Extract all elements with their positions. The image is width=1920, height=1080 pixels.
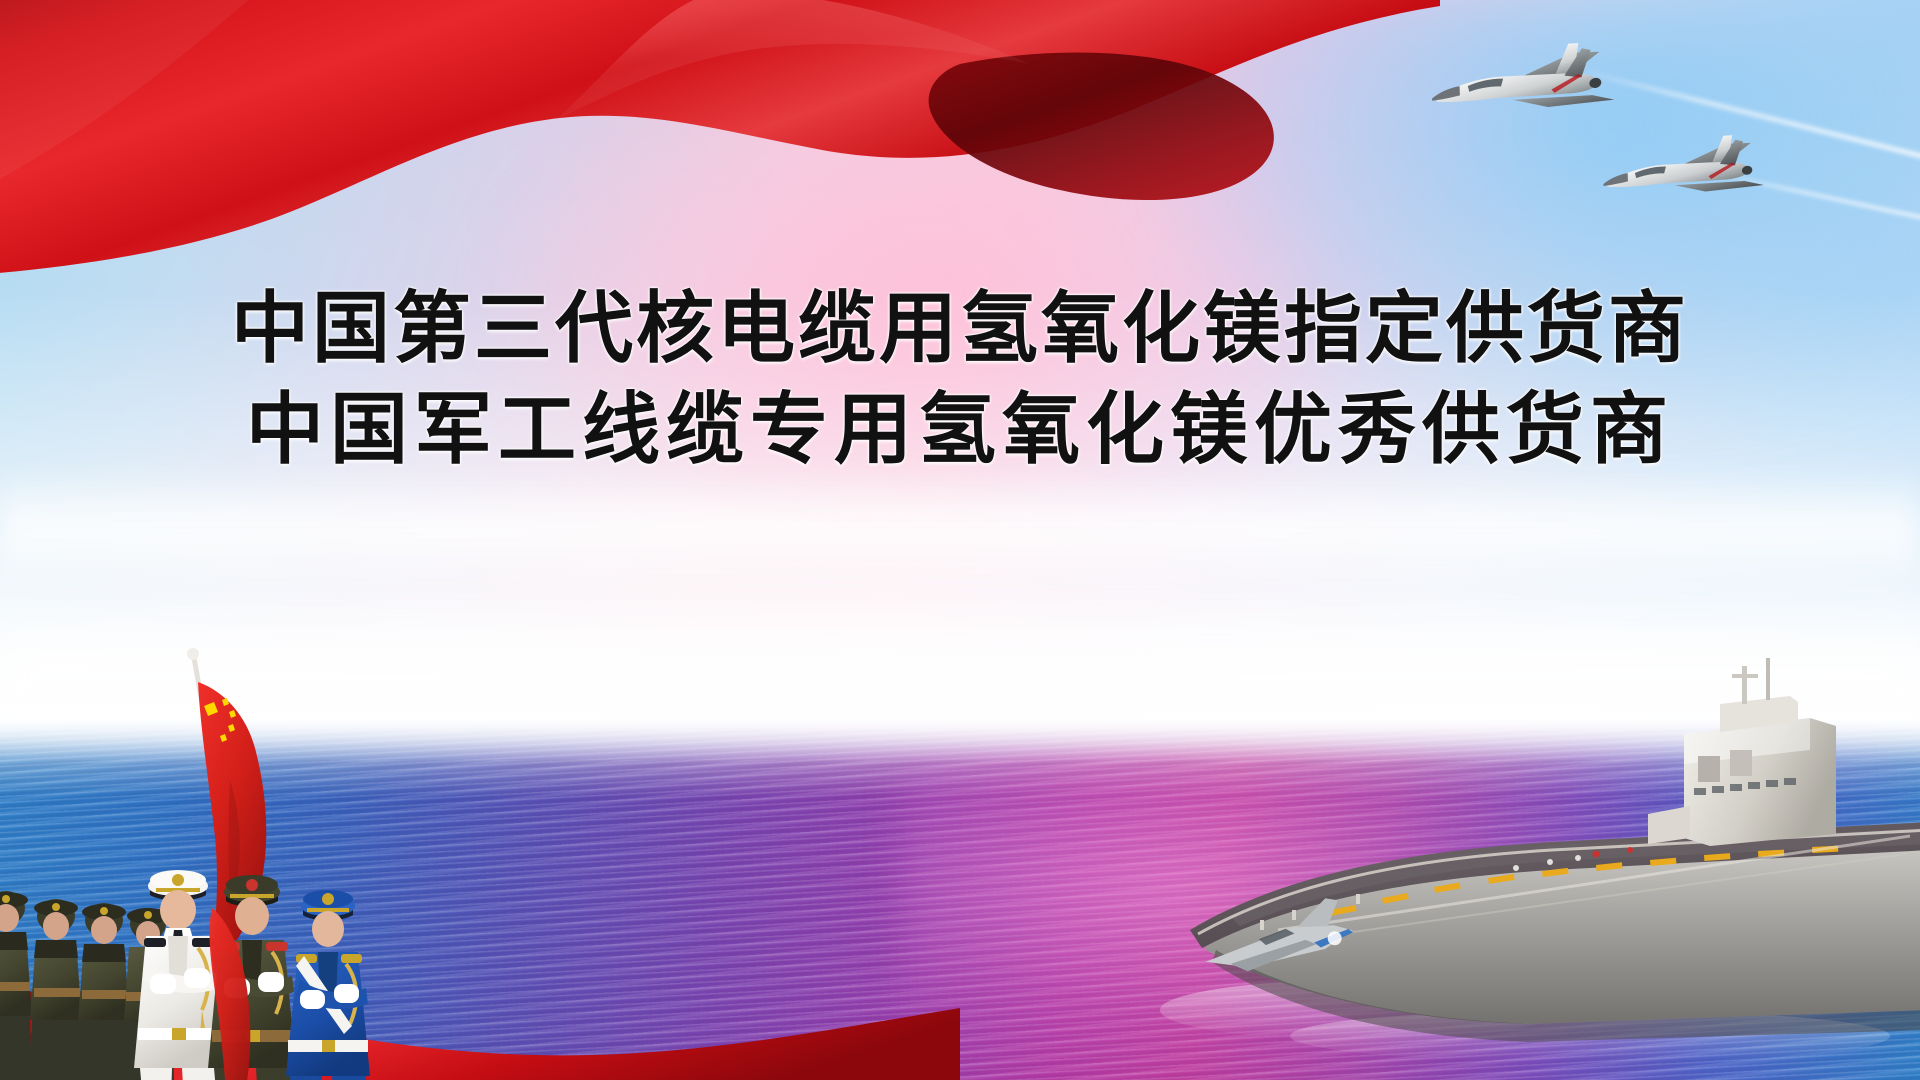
title-line-2: 中国军工线缆专用氢氧化镁优秀供货商 bbox=[0, 379, 1920, 480]
fighter-jet-wingman bbox=[1595, 116, 1780, 245]
title-block: 中国第三代核电缆用氢氧化镁指定供货商 中国军工线缆专用氢氧化镁优秀供货商 bbox=[0, 278, 1920, 481]
horizon-haze bbox=[0, 718, 1920, 764]
cloud-band-upper bbox=[0, 470, 1920, 590]
sea-background bbox=[0, 718, 1920, 1080]
sea-ripples bbox=[0, 730, 1920, 1080]
title-line-1: 中国第三代核电缆用氢氧化镁指定供货商 bbox=[0, 278, 1920, 379]
aircraft-carrier bbox=[1030, 638, 1920, 1068]
red-flag-drape bbox=[0, 0, 1440, 280]
sea-magenta-sheen bbox=[900, 760, 1660, 1080]
honor-guard-formation bbox=[0, 640, 520, 1080]
military-supplier-banner: 中国第三代核电缆用氢氧化镁指定供货商 中国军工线缆专用氢氧化镁优秀供货商 bbox=[0, 0, 1920, 1080]
red-flag-banner bbox=[0, 938, 960, 1080]
fighter-jet-lead bbox=[1422, 21, 1632, 168]
sea-ripples-secondary bbox=[0, 760, 1920, 1080]
contrail-lead bbox=[1575, 67, 1920, 161]
contrail-wingman bbox=[1702, 169, 1920, 227]
cloud-band-lower bbox=[0, 600, 1920, 750]
